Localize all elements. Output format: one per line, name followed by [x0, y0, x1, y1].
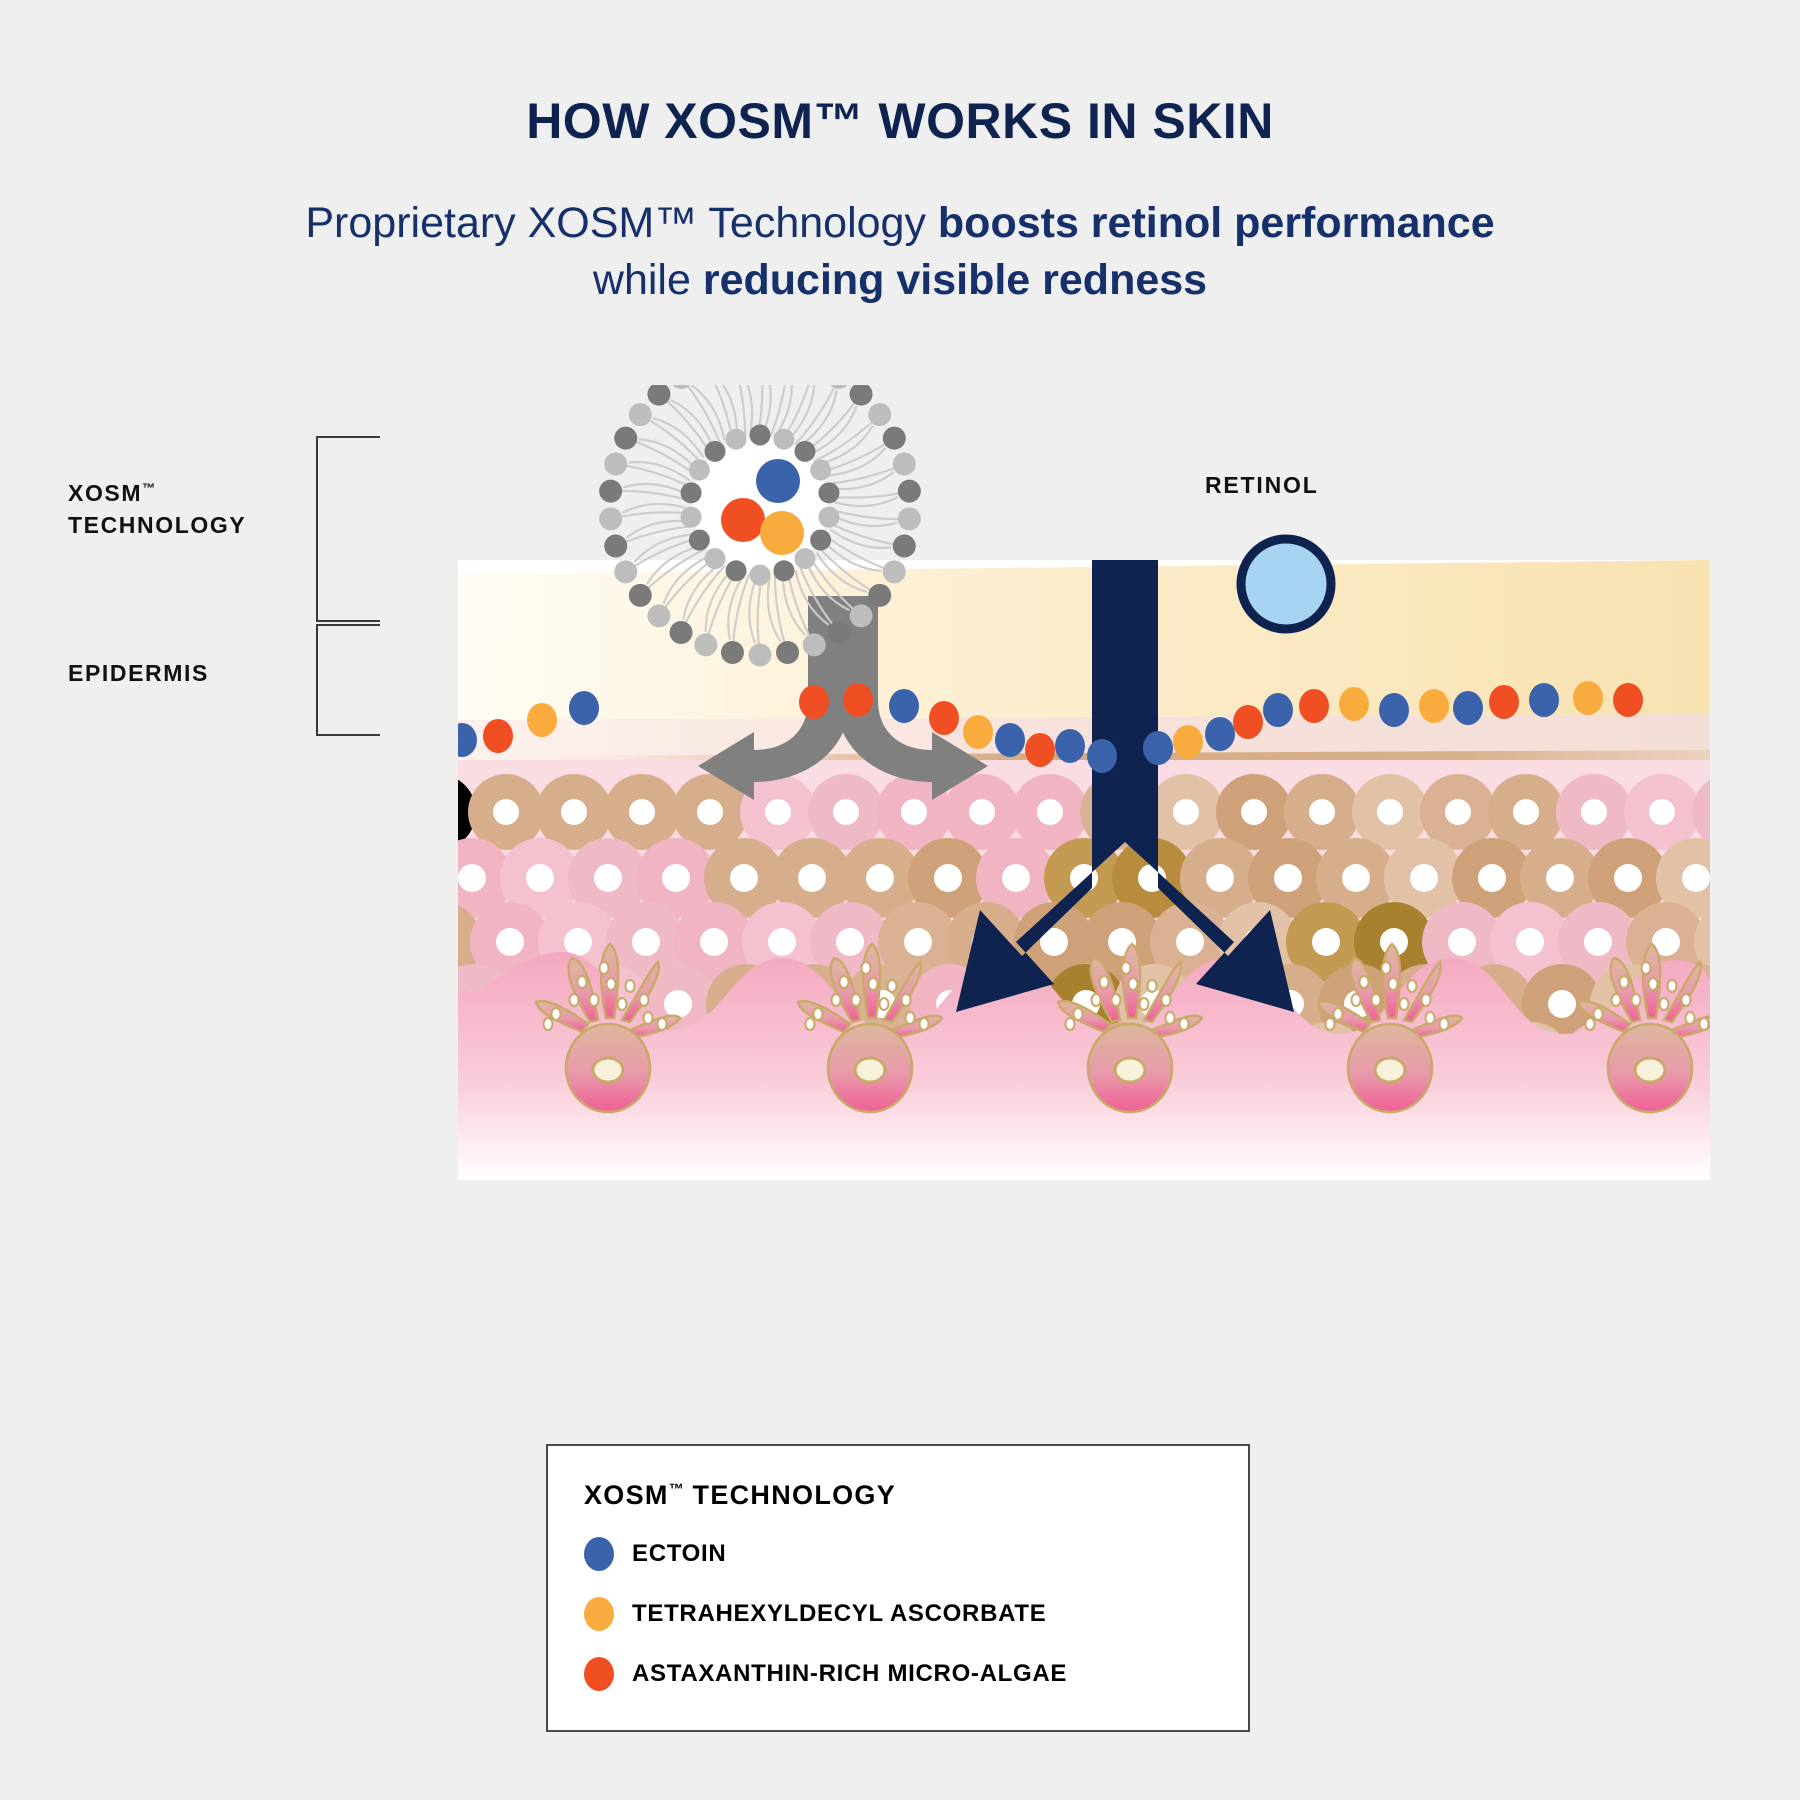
- ingredient-dot: [483, 719, 513, 753]
- ingredient-dot: [995, 723, 1025, 757]
- label-xosm-technology: XOSM™ TECHNOLOGY: [68, 478, 348, 541]
- liposome-head: [893, 535, 916, 558]
- liposome-head: [721, 641, 744, 664]
- liposome-dot-ectoin: [756, 459, 800, 503]
- ingredient-dot: [1055, 729, 1085, 763]
- keratinocyte-cell: [1284, 774, 1360, 850]
- liposome-head: [614, 560, 637, 583]
- liposome-inner-head: [773, 429, 794, 450]
- liposome-dot-ascorbate: [760, 511, 804, 555]
- legend-title: XOSM™ TECHNOLOGY: [584, 1480, 1248, 1511]
- keratinocyte-cell: [1624, 774, 1700, 850]
- label-technology-text: TECHNOLOGY: [68, 512, 246, 538]
- liposome-head: [893, 452, 916, 475]
- ingredient-dot: [1025, 733, 1055, 767]
- liposome-inner-head: [705, 441, 726, 462]
- xosm-liposome: [595, 385, 925, 725]
- liposome-head: [614, 427, 637, 450]
- keratinocyte-cell: [1556, 774, 1632, 850]
- liposome-head: [604, 535, 627, 558]
- ingredient-dot: [1087, 739, 1117, 773]
- label-epidermis: EPIDERMIS: [68, 658, 348, 690]
- keratinocyte-cell: [808, 774, 884, 850]
- liposome-head: [776, 641, 799, 664]
- legend-item-ectoin: ECTOIN: [584, 1537, 1248, 1571]
- liposome-head: [803, 633, 826, 656]
- liposome-head: [647, 604, 670, 627]
- ingredient-dot: [1489, 685, 1519, 719]
- page-subtitle: Proprietary XOSM™ Technology boosts reti…: [300, 195, 1500, 309]
- liposome-inner-head: [705, 548, 726, 569]
- keratinocyte-cell: [1488, 774, 1564, 850]
- liposome-head: [670, 621, 693, 644]
- liposome-dot-astaxanthin: [721, 498, 765, 542]
- keratinocyte-cell: [468, 774, 544, 850]
- label-xosm-text: XOSM: [68, 480, 142, 506]
- liposome-head: [868, 403, 891, 426]
- liposome-head: [599, 507, 622, 530]
- ingredient-dot: [527, 703, 557, 737]
- keratinocyte-cell: [1352, 774, 1428, 850]
- liposome-inner-head: [794, 441, 815, 462]
- bracket-xosm-technology: [316, 436, 380, 622]
- ingredient-dot: [1205, 717, 1235, 751]
- liposome-inner-head: [689, 530, 710, 551]
- liposome-head: [883, 427, 906, 450]
- ingredient-dot: [1453, 691, 1483, 725]
- keratinocyte-cell: [536, 774, 612, 850]
- legend-item-ascorbate: TETRAHEXYLDECYL ASCORBATE: [584, 1597, 1248, 1631]
- ingredient-dot: [1339, 687, 1369, 721]
- subtitle-bold-1: boosts retinol performance: [938, 199, 1495, 247]
- liposome-inner-head: [773, 560, 794, 581]
- legend-label-ascorbate: TETRAHEXYLDECYL ASCORBATE: [632, 1600, 1046, 1628]
- liposome-inner-head: [726, 560, 747, 581]
- liposome-head: [694, 633, 717, 656]
- liposome-inner-head: [794, 548, 815, 569]
- subtitle-part-2: while: [593, 256, 703, 304]
- liposome-head: [629, 403, 652, 426]
- liposome-inner-head: [681, 482, 702, 503]
- ingredient-dot: [1379, 693, 1409, 727]
- liposome-inner-head: [810, 530, 831, 551]
- legend-label-astaxanthin: ASTAXANTHIN-RICH MICRO-ALGAE: [632, 1660, 1067, 1688]
- infographic-canvas: HOW XOSM™ WORKS IN SKIN Proprietary XOSM…: [0, 0, 1800, 1800]
- label-retinol: RETINOL: [1205, 472, 1319, 499]
- ingredient-dot: [1143, 731, 1173, 765]
- liposome-inner-head: [818, 482, 839, 503]
- legend-swatch-astaxanthin: [584, 1657, 614, 1691]
- ingredient-dot: [1573, 681, 1603, 715]
- legend-label-ectoin: ECTOIN: [632, 1540, 726, 1568]
- ingredient-dot: [1173, 725, 1203, 759]
- liposome-inner-head: [681, 507, 702, 528]
- legend-swatch-ascorbate: [584, 1597, 614, 1631]
- liposome-inner-head: [810, 460, 831, 481]
- liposome-head: [827, 385, 850, 389]
- keratinocyte-cell: [604, 774, 680, 850]
- retinol-circle: [1241, 539, 1331, 629]
- legend-box: XOSM™ TECHNOLOGY ECTOIN TETRAHEXYLDECYL …: [546, 1444, 1250, 1732]
- ingredient-dot: [929, 701, 959, 735]
- legend-item-astaxanthin: ASTAXANTHIN-RICH MICRO-ALGAE: [584, 1657, 1248, 1691]
- bracket-epidermis: [316, 624, 380, 736]
- keratinocyte-cell: [1148, 774, 1224, 850]
- liposome-inner-head: [818, 507, 839, 528]
- ingredient-dot: [963, 715, 993, 749]
- liposome-head: [898, 480, 921, 503]
- subtitle-bold-2: reducing visible redness: [703, 256, 1207, 304]
- ingredient-dot: [1419, 689, 1449, 723]
- keratinocyte-cell: [1012, 774, 1088, 850]
- trademark-icon: ™: [142, 480, 155, 495]
- ingredient-dot: [1529, 683, 1559, 717]
- keratinocyte-cell: [1420, 774, 1496, 850]
- liposome-inner-head: [689, 460, 710, 481]
- keratinocyte-cell: [1216, 774, 1292, 850]
- ingredient-dot: [1299, 689, 1329, 723]
- legend-title-rest: TECHNOLOGY: [684, 1480, 896, 1510]
- liposome-head: [883, 560, 906, 583]
- legend-swatch-ectoin: [584, 1537, 614, 1571]
- liposome-head: [827, 621, 850, 644]
- trademark-icon: ™: [669, 1481, 684, 1498]
- liposome-head: [898, 507, 921, 530]
- liposome-inner-head: [750, 565, 771, 586]
- liposome-head: [604, 452, 627, 475]
- liposome-head: [629, 584, 652, 607]
- liposome-head: [868, 584, 891, 607]
- ingredient-dot: [1613, 683, 1643, 717]
- liposome-head: [749, 644, 772, 667]
- liposome-head: [850, 385, 873, 406]
- ingredient-dot: [1233, 705, 1263, 739]
- liposome-head: [850, 604, 873, 627]
- subtitle-part-1: Proprietary XOSM™ Technology: [305, 199, 938, 247]
- liposome-inner-head: [750, 425, 771, 446]
- retinol-molecule: [1230, 528, 1342, 640]
- liposome-head: [599, 480, 622, 503]
- ingredient-dot: [1263, 693, 1293, 727]
- page-title: HOW XOSM™ WORKS IN SKIN: [0, 92, 1800, 150]
- legend-title-main: XOSM: [584, 1480, 669, 1510]
- liposome-inner-head: [726, 429, 747, 450]
